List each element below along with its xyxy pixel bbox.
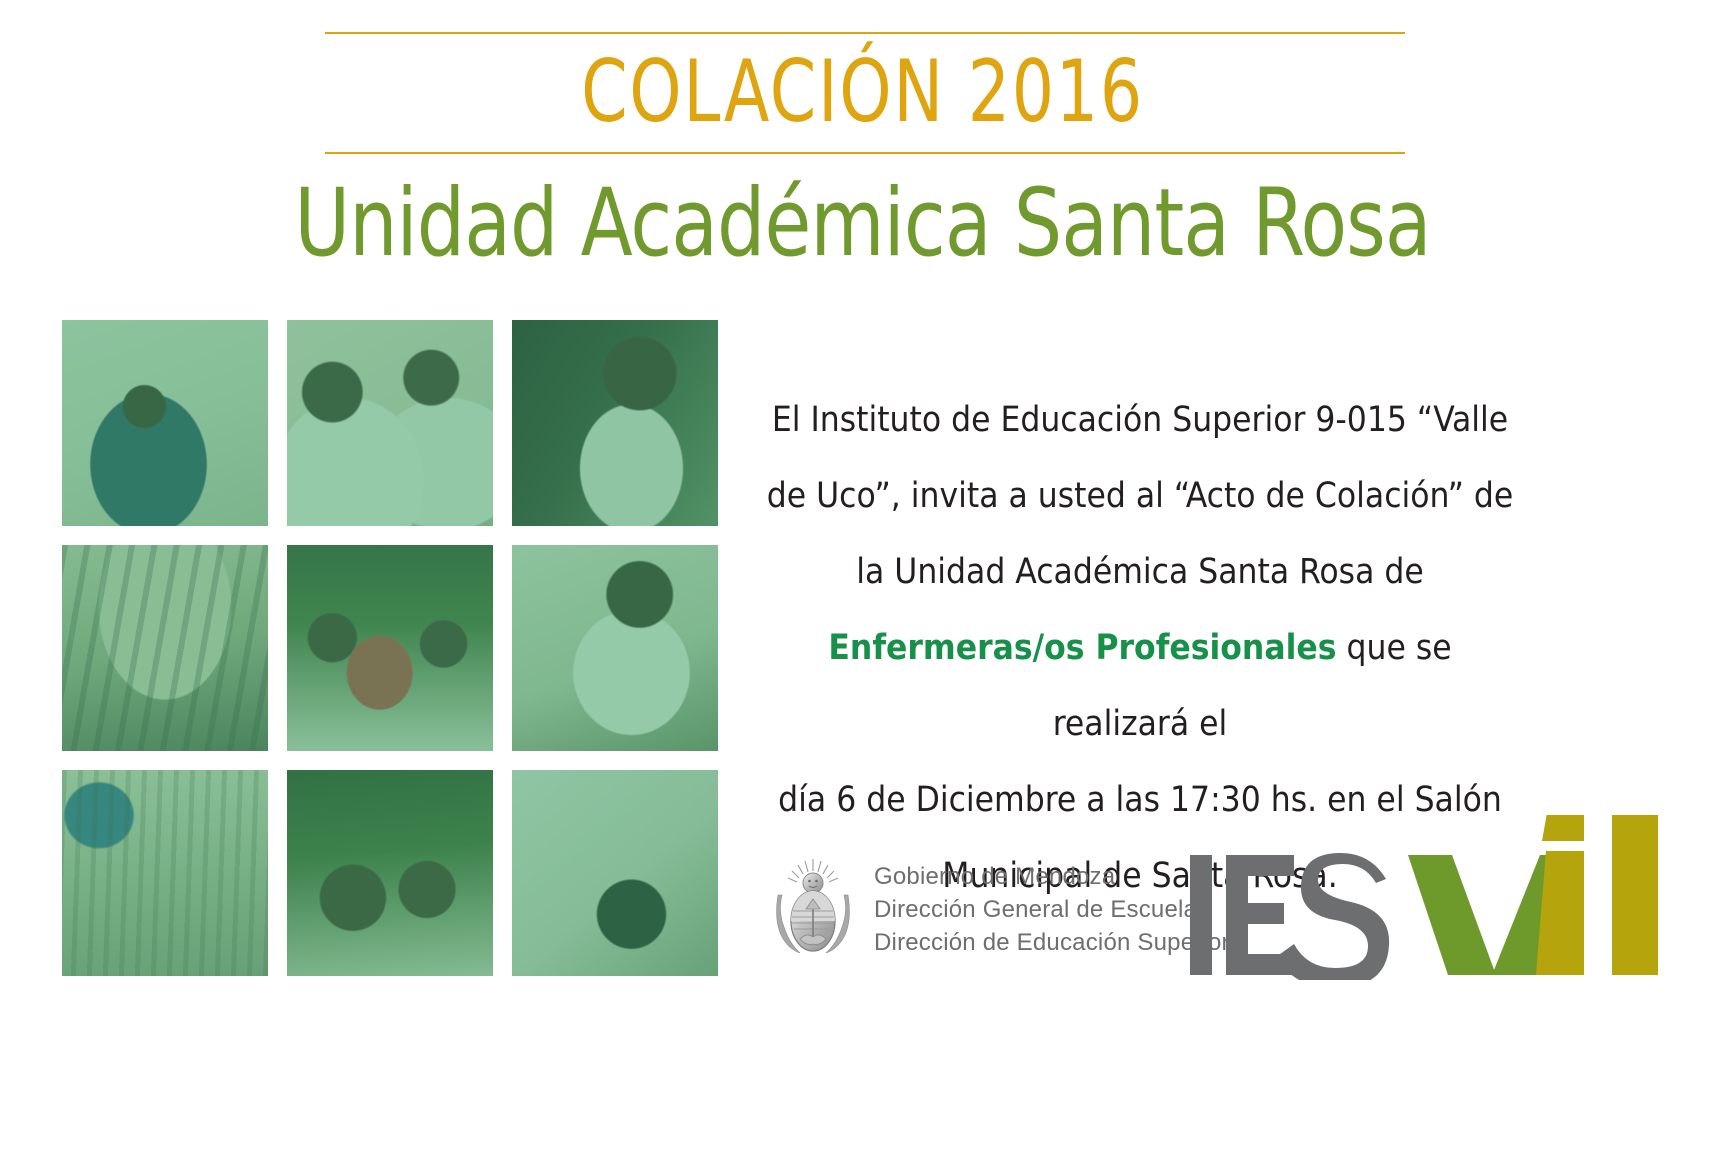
poster-canvas: COLACIÓN 2016 Unidad Académica Santa Ros…: [0, 0, 1725, 1153]
gov-line-1: Gobierno de Mendoza: [874, 860, 1230, 893]
green-tint-overlay: [287, 545, 493, 751]
logo-letter-i: [1190, 855, 1212, 975]
iesvu-logo: [1180, 815, 1700, 980]
government-logo-text: Gobierno de Mendoza Dirección General de…: [874, 860, 1230, 959]
poster-subtitle: Unidad Académica Santa Rosa: [86, 172, 1639, 276]
invitation-line-3: la Unidad Académica Santa Rosa de: [760, 534, 1520, 610]
gallery-photo: [512, 545, 718, 751]
gallery-photo: [512, 320, 718, 526]
gallery-photo: [62, 770, 268, 976]
green-tint-overlay: [512, 545, 718, 751]
gallery-photo: [512, 770, 718, 976]
gov-line-2: Dirección General de Escuelas: [874, 893, 1230, 926]
header-rule-top: [325, 32, 1405, 34]
logo-accent-dot: [1542, 815, 1584, 841]
gallery-photo: [62, 545, 268, 751]
invitation-line-2: de Uco”, invita a usted al “Acto de Cola…: [760, 458, 1520, 534]
green-tint-overlay: [62, 545, 268, 751]
logo-letter-v-left: [1408, 855, 1496, 975]
green-tint-overlay: [512, 770, 718, 976]
green-tint-overlay: [287, 770, 493, 976]
green-tint-overlay: [62, 770, 268, 976]
logo-letter-u: [1612, 815, 1658, 975]
poster-header: COLACIÓN 2016 Unidad Académica Santa Ros…: [0, 0, 1725, 300]
government-logo-block: Gobierno de Mendoza Dirección General de…: [770, 855, 1230, 963]
argentina-coat-of-arms-icon: [770, 855, 856, 963]
invitation-line-1: El Instituto de Educación Superior 9-015…: [760, 382, 1520, 458]
green-tint-overlay: [512, 320, 718, 526]
degree-highlight: Enfermeras/os Profesionales: [828, 628, 1336, 668]
green-tint-overlay: [287, 320, 493, 526]
gallery-photo: [287, 770, 493, 976]
gallery-photo: [287, 320, 493, 526]
green-tint-overlay: [62, 320, 268, 526]
photo-gallery-grid: [62, 320, 728, 976]
gallery-photo: [62, 320, 268, 526]
invitation-line-4: Enfermeras/os Profesionales que se reali…: [760, 610, 1520, 762]
header-rule-bottom: [325, 152, 1405, 154]
poster-title: COLACIÓN 2016: [121, 40, 1605, 144]
gov-line-3: Dirección de Educación Superior: [874, 926, 1230, 959]
gallery-photo: [287, 545, 493, 751]
